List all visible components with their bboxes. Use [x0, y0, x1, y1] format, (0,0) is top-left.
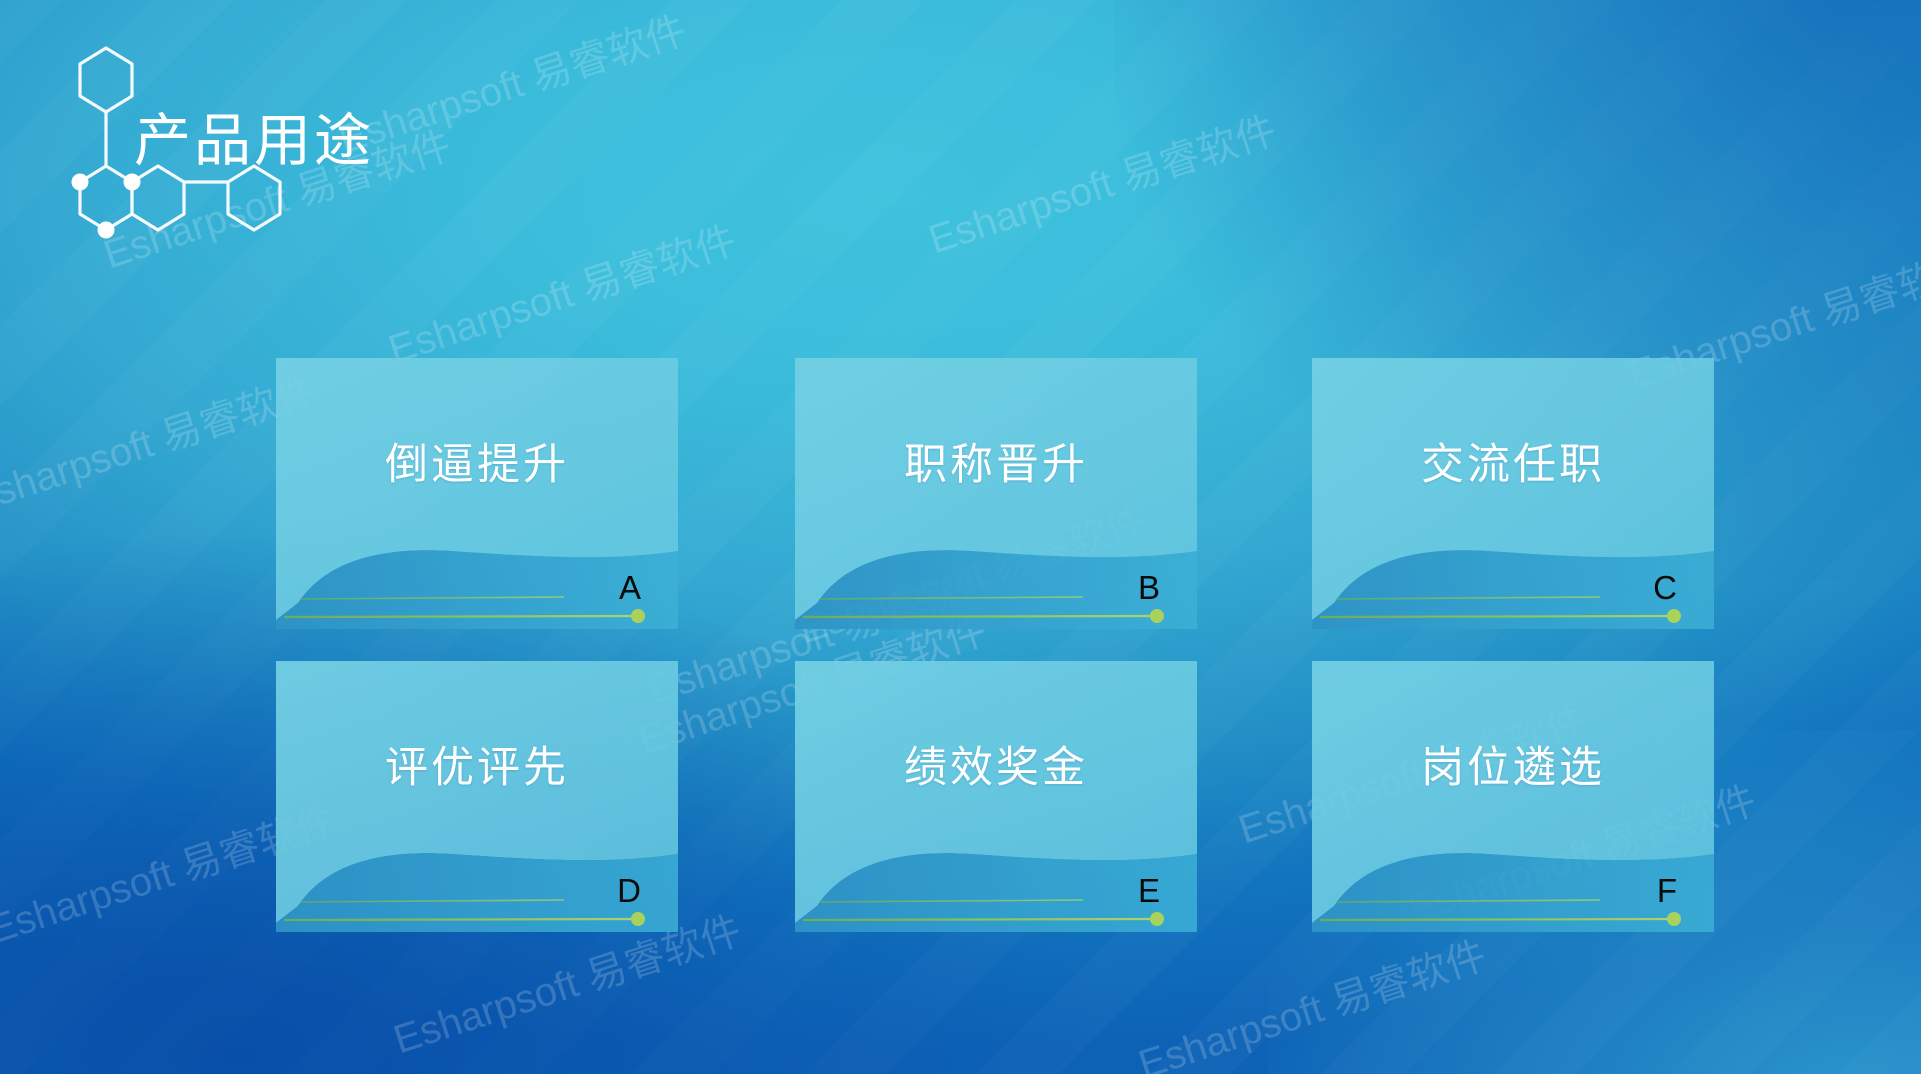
card-item[interactable]: 倒逼提升 A [276, 358, 678, 629]
card-letter-label: D [617, 872, 642, 910]
card-item[interactable]: 岗位遴选 F [1312, 661, 1714, 932]
card-title: 绩效奖金 [795, 733, 1197, 795]
card-artwork [1312, 661, 1714, 932]
card-artwork [795, 661, 1197, 932]
card-item[interactable]: 评优评先 D [276, 661, 678, 932]
watermark-text: Esharpsoft 易睿软件 [1130, 923, 1493, 1074]
page-title: 产品用途 [134, 95, 374, 177]
card-title: 交流任职 [1312, 430, 1714, 492]
card-letter-label: B [1138, 569, 1161, 607]
card-letter-label: C [1653, 569, 1678, 607]
card-letter-label: A [619, 569, 642, 607]
card-artwork [795, 358, 1197, 629]
card-letter-label: F [1657, 872, 1678, 910]
card-title: 岗位遴选 [1312, 733, 1714, 795]
slide-header: 产品用途 [0, 0, 640, 290]
card-title: 职称晋升 [795, 430, 1197, 492]
watermark-text: Esharpsoft 易睿软件 [0, 358, 323, 525]
card-grid: 倒逼提升 A [276, 358, 1716, 938]
slide-canvas: Esharpsoft 易睿软件 Esharpsoft 易睿软件 Esharpso… [0, 0, 1921, 1074]
card-item[interactable]: 交流任职 C [1312, 358, 1714, 629]
card-letter-label: E [1138, 872, 1161, 910]
card-title: 倒逼提升 [276, 430, 678, 492]
card-title: 评优评先 [276, 733, 678, 795]
card-item[interactable]: 职称晋升 B [795, 358, 1197, 629]
card-item[interactable]: 绩效奖金 E [795, 661, 1197, 932]
watermark-text: Esharpsoft 易睿软件 [920, 98, 1283, 265]
card-artwork [276, 358, 678, 629]
